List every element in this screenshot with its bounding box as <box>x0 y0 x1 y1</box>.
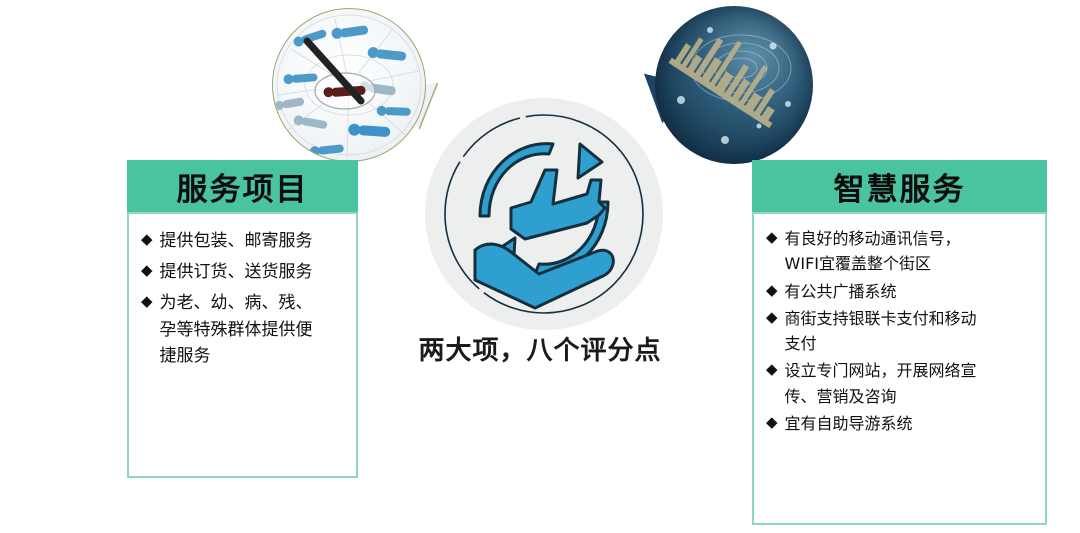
list-item: ◆ 设立专门网站，开展网络宣 传、营销及咨询 <box>766 358 1037 409</box>
diamond-bullet-icon: ◆ <box>766 306 778 329</box>
diamond-bullet-icon: ◆ <box>141 290 153 313</box>
diamond-bullet-icon: ◆ <box>766 411 778 434</box>
panel-service-items: 服务项目 ◆ 提供包装、邮寄服务 ◆ 提供订货、送货服务 ◆ 为老、幼、病、残、… <box>127 160 358 478</box>
magnifier-icon <box>307 41 375 109</box>
diamond-bullet-icon: ◆ <box>766 226 778 249</box>
diamond-bullet-icon: ◆ <box>766 279 778 302</box>
list-item: ◆ 宜有自助导游系统 <box>766 411 1037 436</box>
panel-left-body: ◆ 提供包装、邮寄服务 ◆ 提供订货、送货服务 ◆ 为老、幼、病、残、 孕等特殊… <box>127 212 358 478</box>
list-item: ◆ 为老、幼、病、残、 孕等特殊群体提供便 捷服务 <box>141 290 346 371</box>
people-network-illustration <box>273 9 425 161</box>
list-item: ◆ 商街支持银联卡支付和移动 支付 <box>766 306 1037 357</box>
city-skyline-globe-photo <box>655 6 813 164</box>
diamond-bullet-icon: ◆ <box>141 228 153 251</box>
city-skyline-illustration <box>655 6 813 164</box>
hand-holding-airplane-icon <box>425 98 663 330</box>
panel-right-body: ◆ 有良好的移动通讯信号， WIFI宜覆盖整个街区 ◆ 有公共广播系统 ◆ 商街… <box>752 212 1047 525</box>
panel-smart-service: 智慧服务 ◆ 有良好的移动通讯信号， WIFI宜覆盖整个街区 ◆ 有公共广播系统… <box>752 160 1047 525</box>
emblem-artwork <box>425 98 663 330</box>
list-item: ◆ 有公共广播系统 <box>766 279 1037 304</box>
people-network-magnifier-photo <box>272 8 426 162</box>
list-item: ◆ 提供包装、邮寄服务 <box>141 228 346 255</box>
list-item: ◆ 提供订货、送货服务 <box>141 259 346 286</box>
center-caption: 两大项，八个评分点 <box>390 330 690 367</box>
panel-right-title: 智慧服务 <box>752 160 1047 212</box>
diamond-bullet-icon: ◆ <box>766 358 778 381</box>
panel-left-title: 服务项目 <box>127 160 358 212</box>
diamond-bullet-icon: ◆ <box>141 259 153 282</box>
list-item: ◆ 有良好的移动通讯信号， WIFI宜覆盖整个街区 <box>766 226 1037 277</box>
